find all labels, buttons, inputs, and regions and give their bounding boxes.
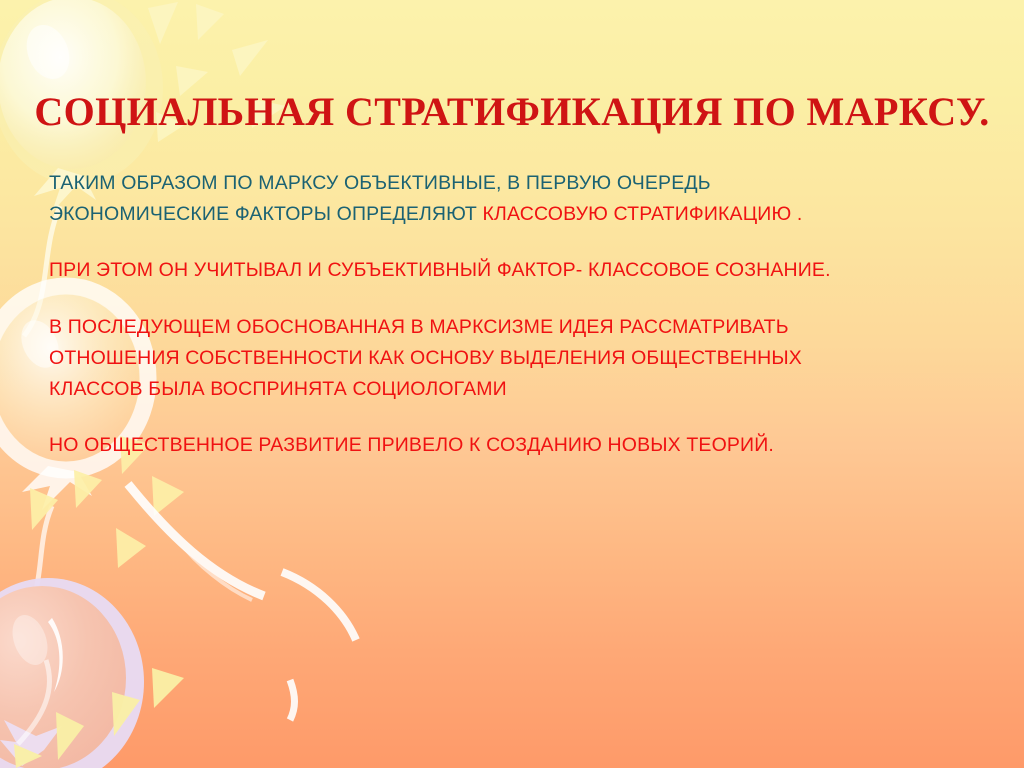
presentation-slide: СОЦИАЛЬНАЯ СТРАТИФИКАЦИЯ ПО МАРКСУ. ТАКИ…: [0, 0, 1024, 768]
paragraph-1-line-2-run-1: ЭКОНОМИЧЕСКИЕ ФАКТОРЫ ОПРЕДЕЛЯЮТ: [49, 203, 483, 225]
paragraph-3: В ПОСЛЕДУЮЩЕМ ОБОСНОВАННАЯ В МАРКСИЗМЕ И…: [49, 312, 949, 405]
paragraph-4: НО ОБЩЕСТВЕННОЕ РАЗВИТИЕ ПРИВЕЛО К СОЗДА…: [49, 430, 949, 461]
slide-content: СОЦИАЛЬНАЯ СТРАТИФИКАЦИЯ ПО МАРКСУ. ТАКИ…: [0, 0, 1024, 768]
page-title: СОЦИАЛЬНАЯ СТРАТИФИКАЦИЯ ПО МАРКСУ.: [0, 89, 1024, 135]
paragraph-2-line-1: ПРИ ЭТОМ ОН УЧИТЫВАЛ И СУБЪЕКТИВНЫЙ ФАКТ…: [49, 259, 831, 281]
paragraph-3-line-1: В ПОСЛЕДУЮЩЕМ ОБОСНОВАННАЯ В МАРКСИЗМЕ И…: [49, 316, 789, 338]
paragraph-1-line-2-run-2: КЛАССОВУЮ СТРАТИФИКАЦИЮ .: [483, 203, 803, 225]
paragraph-2: ПРИ ЭТОМ ОН УЧИТЫВАЛ И СУБЪЕКТИВНЫЙ ФАКТ…: [49, 255, 949, 286]
paragraph-3-line-2: ОТНОШЕНИЯ СОБСТВЕННОСТИ КАК ОСНОВУ ВЫДЕЛ…: [49, 347, 802, 369]
paragraph-3-line-3: КЛАССОВ БЫЛА ВОСПРИНЯТА СОЦИОЛОГАМИ: [49, 378, 507, 400]
paragraph-1: ТАКИМ ОБРАЗОМ ПО МАРКСУ ОБЪЕКТИВНЫЕ, В П…: [49, 168, 949, 230]
paragraph-4-line-1: НО ОБЩЕСТВЕННОЕ РАЗВИТИЕ ПРИВЕЛО К СОЗДА…: [49, 434, 774, 456]
slide-body: ТАКИМ ОБРАЗОМ ПО МАРКСУ ОБЪЕКТИВНЫЕ, В П…: [49, 168, 949, 461]
paragraph-1-line-1: ТАКИМ ОБРАЗОМ ПО МАРКСУ ОБЪЕКТИВНЫЕ, В П…: [49, 172, 711, 194]
